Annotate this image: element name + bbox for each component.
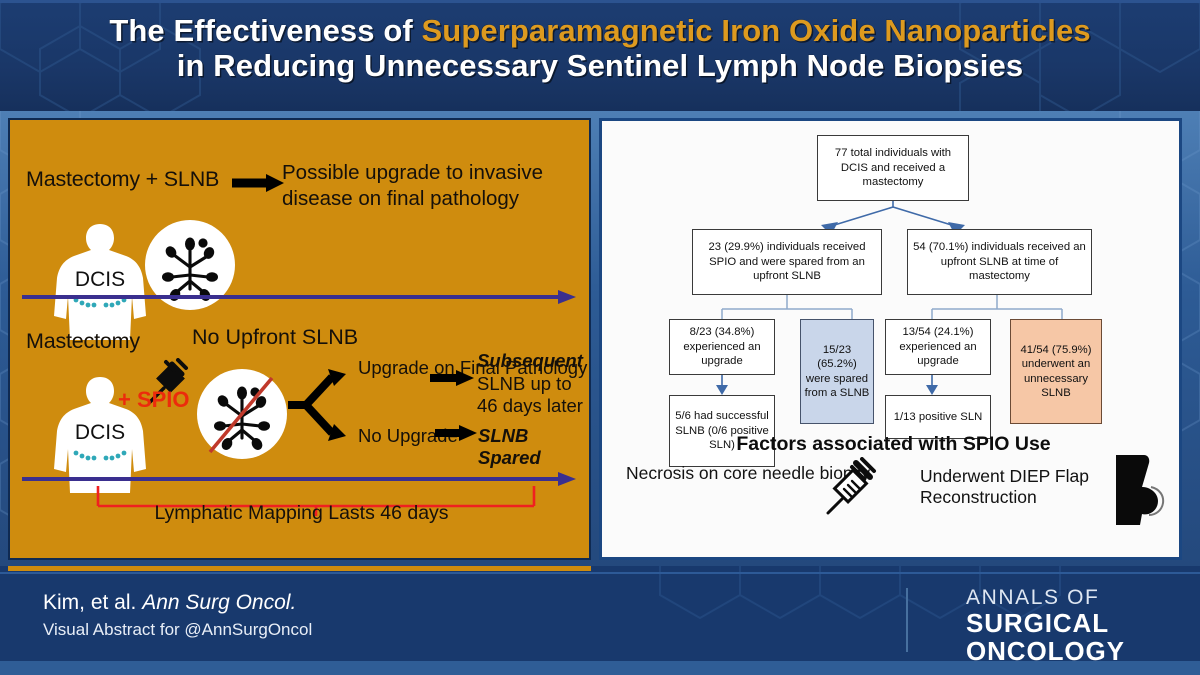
title-prefix: The Effectiveness of bbox=[109, 13, 421, 48]
flow-box-right-child-2: 41/54 (75.9%) underwent an unnecessary S… bbox=[1010, 319, 1102, 424]
subsequent-emph: Subsequent bbox=[477, 350, 583, 371]
row1-arrow-icon bbox=[232, 172, 288, 194]
citation-author: Kim, et al. bbox=[43, 591, 142, 614]
flow-box-left-child-2: 15/23 (65.2%) were spared from a SLNB bbox=[800, 319, 874, 424]
lymphatic-mapping-label: Lymphatic Mapping Lasts 46 days bbox=[10, 502, 591, 525]
dcis-torso-icon-row1: DCIS bbox=[50, 220, 150, 342]
brand-line-1: ANNALS OF bbox=[966, 586, 1125, 610]
footer-bottom-sheen bbox=[0, 661, 1200, 675]
timeline-arrow-row1 bbox=[22, 290, 578, 304]
footer-bar: Kim, et al. Ann Surg Oncol. Visual Abstr… bbox=[0, 566, 1200, 675]
subsequent-slnb-label: Subsequent SLNB up to 46 days later bbox=[477, 350, 591, 418]
slnb-spared-label: SLNB Spared bbox=[478, 425, 589, 469]
factors-section-title: Factors associated with SPIO Use bbox=[602, 433, 1182, 456]
flow-box-root: 77 total individuals with DCIS and recei… bbox=[817, 135, 969, 201]
footer-accent-bar bbox=[8, 566, 591, 571]
branch-split-arrows-icon bbox=[288, 360, 366, 450]
upgrade-result-arrow-icon bbox=[430, 368, 476, 388]
header-top-rule bbox=[0, 0, 1200, 3]
right-flowchart-panel: 77 total individuals with DCIS and recei… bbox=[599, 118, 1182, 560]
brand-line-2: SURGICAL bbox=[966, 608, 1125, 639]
flow-box-left-branch: 23 (29.9%) individuals received SPIO and… bbox=[692, 229, 882, 295]
subsequent-rest: SLNB up to 46 days later bbox=[477, 373, 583, 417]
citation-subtitle: Visual Abstract for @AnnSurgOncol bbox=[43, 620, 312, 640]
citation-line: Kim, et al. Ann Surg Oncol. bbox=[43, 591, 296, 615]
flow-box-left-child-1-sub: 5/6 had successful SLNB (0/6 positive SL… bbox=[669, 395, 775, 467]
syringe-icon bbox=[822, 457, 878, 519]
lymphatic-vessel-circle-crossed-icon bbox=[196, 368, 288, 460]
flow-box-right-child-1: 13/54 (24.1%) experienced an upgrade bbox=[885, 319, 991, 375]
torso-label-row1: DCIS bbox=[75, 268, 125, 291]
flow-box-left-child-1: 8/23 (34.8%) experienced an upgrade bbox=[669, 319, 775, 375]
title-line-2: in Reducing Unnecessary Sentinel Lymph N… bbox=[0, 49, 1200, 84]
spio-label: + SPIO bbox=[118, 387, 190, 413]
torso-label-row2: DCIS bbox=[75, 421, 125, 444]
page-title: The Effectiveness of Superparamagnetic I… bbox=[0, 14, 1200, 83]
title-highlight: Superparamagnetic Iron Oxide Nanoparticl… bbox=[422, 13, 1091, 48]
visual-abstract-page: The Effectiveness of Superparamagnetic I… bbox=[0, 0, 1200, 675]
no-upgrade-result-arrow-icon bbox=[435, 423, 479, 443]
row1-outcome-label: Possible upgrade to invasive disease on … bbox=[282, 160, 552, 212]
footer-divider bbox=[906, 588, 908, 652]
breast-silhouette-icon bbox=[1102, 453, 1168, 527]
journal-brand: ANNALS OF SURGICAL ONCOLOGY bbox=[966, 586, 1125, 667]
header-banner: The Effectiveness of Superparamagnetic I… bbox=[0, 0, 1200, 111]
row2-pathway-label: Mastectomy bbox=[26, 329, 140, 354]
row2-no-upfront-label: No Upfront SLNB bbox=[192, 325, 358, 350]
footer-top-rule bbox=[0, 572, 1200, 574]
left-schematic-panel: Mastectomy + SLNB Possible upgrade to in… bbox=[8, 118, 591, 560]
citation-journal: Ann Surg Oncol. bbox=[142, 591, 296, 614]
title-line-1: The Effectiveness of Superparamagnetic I… bbox=[0, 14, 1200, 49]
flow-box-right-branch: 54 (70.1%) individuals received an upfro… bbox=[907, 229, 1092, 295]
row1-pathway-label: Mastectomy + SLNB bbox=[26, 167, 219, 192]
